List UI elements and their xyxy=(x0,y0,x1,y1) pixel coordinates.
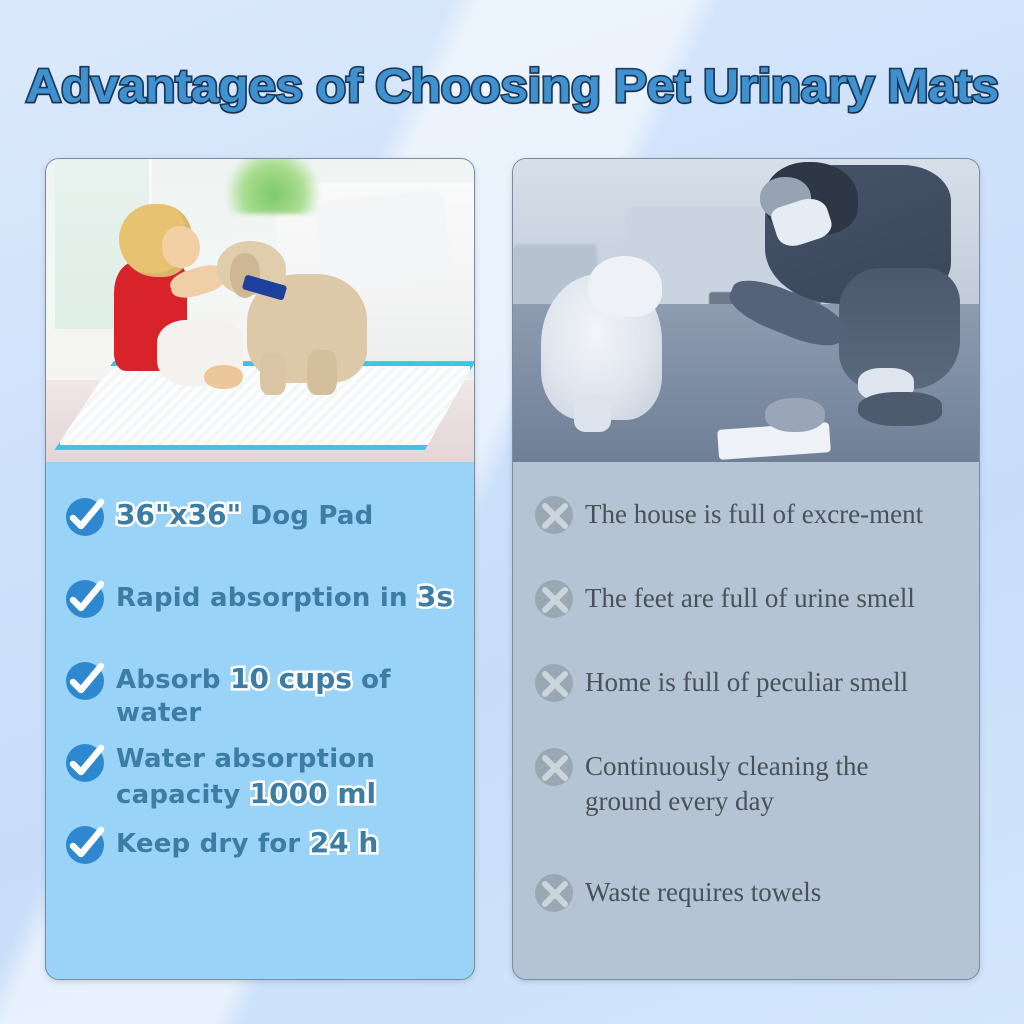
page-title: Advantages of Choosing Pet Urinary Mats xyxy=(25,58,998,113)
cons-photo xyxy=(513,159,979,462)
highlight-value: 24 h xyxy=(310,826,379,859)
pros-item-text: Keep dry for 24 h xyxy=(116,820,378,861)
cons-item-text: Waste requires towels xyxy=(585,868,821,910)
check-circle-icon xyxy=(64,660,106,702)
check-circle-icon xyxy=(64,742,106,784)
plain-text: Rapid absorption in xyxy=(116,583,417,613)
infographic-root: Advantages of Choosing Pet Urinary Mats xyxy=(0,0,1024,1024)
list-item: Waste requires towels xyxy=(533,868,979,952)
list-item: 36"x36" Dog Pad xyxy=(64,492,474,574)
check-circle-icon xyxy=(64,496,106,538)
cons-card: The house is full of excre-ment The feet… xyxy=(512,158,980,980)
pros-card: 36"x36" Dog Pad Rapid absorption in 3s A… xyxy=(45,158,475,980)
list-item: Water absorption capacity 1000 ml xyxy=(64,738,474,820)
plain-text: Keep dry for xyxy=(116,829,310,859)
cons-item-text: Home is full of peculiar smell xyxy=(585,658,908,700)
list-item: The feet are full of urine smell xyxy=(533,574,979,658)
plain-text: Absorb xyxy=(116,665,230,695)
photo-plant xyxy=(226,159,320,214)
x-circle-icon xyxy=(533,578,575,620)
list-item: Keep dry for 24 h xyxy=(64,820,474,902)
x-circle-icon xyxy=(533,494,575,536)
cons-item-text: The feet are full of urine smell xyxy=(585,574,915,616)
x-circle-icon xyxy=(533,662,575,704)
pros-list: 36"x36" Dog Pad Rapid absorption in 3s A… xyxy=(46,462,474,902)
photo-puppy-front-leg xyxy=(260,353,286,395)
pros-item-text: Absorb 10 cups of water xyxy=(116,656,474,731)
x-circle-icon xyxy=(533,872,575,914)
x-circle-icon xyxy=(533,746,575,788)
highlight-value: 1000 ml xyxy=(250,777,376,810)
photo-poodle-head xyxy=(588,256,663,317)
list-item: Rapid absorption in 3s xyxy=(64,574,474,656)
photo-poodle-leg xyxy=(574,395,611,431)
highlight-value: 3s xyxy=(417,580,453,613)
highlight-value: 10 cups xyxy=(230,662,352,695)
photo-boy-foot xyxy=(204,365,243,389)
photo-boy-face xyxy=(162,226,201,268)
photo-shoe xyxy=(858,392,942,425)
pros-item-text: Water absorption capacity 1000 ml xyxy=(116,738,474,813)
list-item: Absorb 10 cups of water xyxy=(64,656,474,738)
plain-text: Dog Pad xyxy=(241,501,373,531)
check-circle-icon xyxy=(64,578,106,620)
cons-item-text: The house is full of excre-ment xyxy=(585,490,923,532)
list-item: Home is full of peculiar smell xyxy=(533,658,979,742)
highlight-value: 36"x36" xyxy=(116,498,241,531)
photo-hand xyxy=(765,398,826,431)
list-item: The house is full of excre-ment xyxy=(533,490,979,574)
list-item: Continuously cleaning the ground every d… xyxy=(533,742,979,868)
pros-item-text: 36"x36" Dog Pad xyxy=(116,492,373,533)
check-circle-icon xyxy=(64,824,106,866)
photo-puppy-hind-leg xyxy=(307,350,337,395)
cons-item-text: Continuously cleaning the ground every d… xyxy=(585,742,915,818)
cons-list: The house is full of excre-ment The feet… xyxy=(513,462,979,952)
pros-item-text: Rapid absorption in 3s xyxy=(116,574,453,615)
page-title-container: Advantages of Choosing Pet Urinary Mats xyxy=(0,50,1024,120)
pros-photo xyxy=(46,159,474,462)
